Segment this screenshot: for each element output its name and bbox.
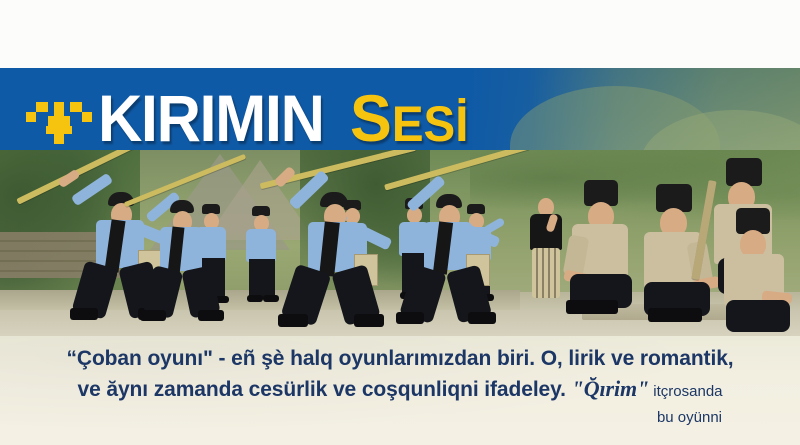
dancer-foreground-second — [130, 172, 250, 332]
newspaper-banner-page: KIRIMINSESİ KIRIM TÜRKLERININ GAZETESI — [0, 0, 800, 445]
dancer-foreground-center — [268, 154, 408, 332]
seated-man-3 — [716, 208, 800, 338]
dancer-foreground-right — [388, 160, 522, 332]
caption-area: “Çoban oyunı" - eñ şè halq oyunlarımızda… — [0, 336, 800, 445]
photo-scene — [0, 150, 800, 338]
caption-line-1: “Çoban oyunı" - eñ şè halq oyunlarımızda… — [22, 344, 778, 374]
caption-line-2: ve ăynı zamanda cesürlik ve coşqunliqni … — [22, 374, 778, 407]
crimean-tatar-folk-dance-photo — [0, 150, 800, 338]
caption-line-2-part-b: itçrosanda — [649, 383, 722, 400]
top-white-strip — [0, 0, 800, 68]
masthead-title-accent-cap: S — [350, 81, 392, 155]
caption-line-2-part-a: ve ăynı zamanda cesürlik ve coşqunliqni … — [77, 378, 571, 401]
caption-line-3: bu oyünni — [22, 407, 778, 429]
masthead-title-main: KIRIMIN — [98, 80, 324, 156]
tamga-icon — [26, 96, 92, 144]
masthead-title: KIRIMINSESİ — [98, 80, 475, 156]
caption-line-2-quote: "Q̆ırim" — [572, 376, 650, 401]
caption-inner: “Çoban oyunı" - eñ şè halq oyunlarımızda… — [0, 344, 800, 429]
masthead-title-accent-rest: ESİ — [392, 96, 469, 152]
